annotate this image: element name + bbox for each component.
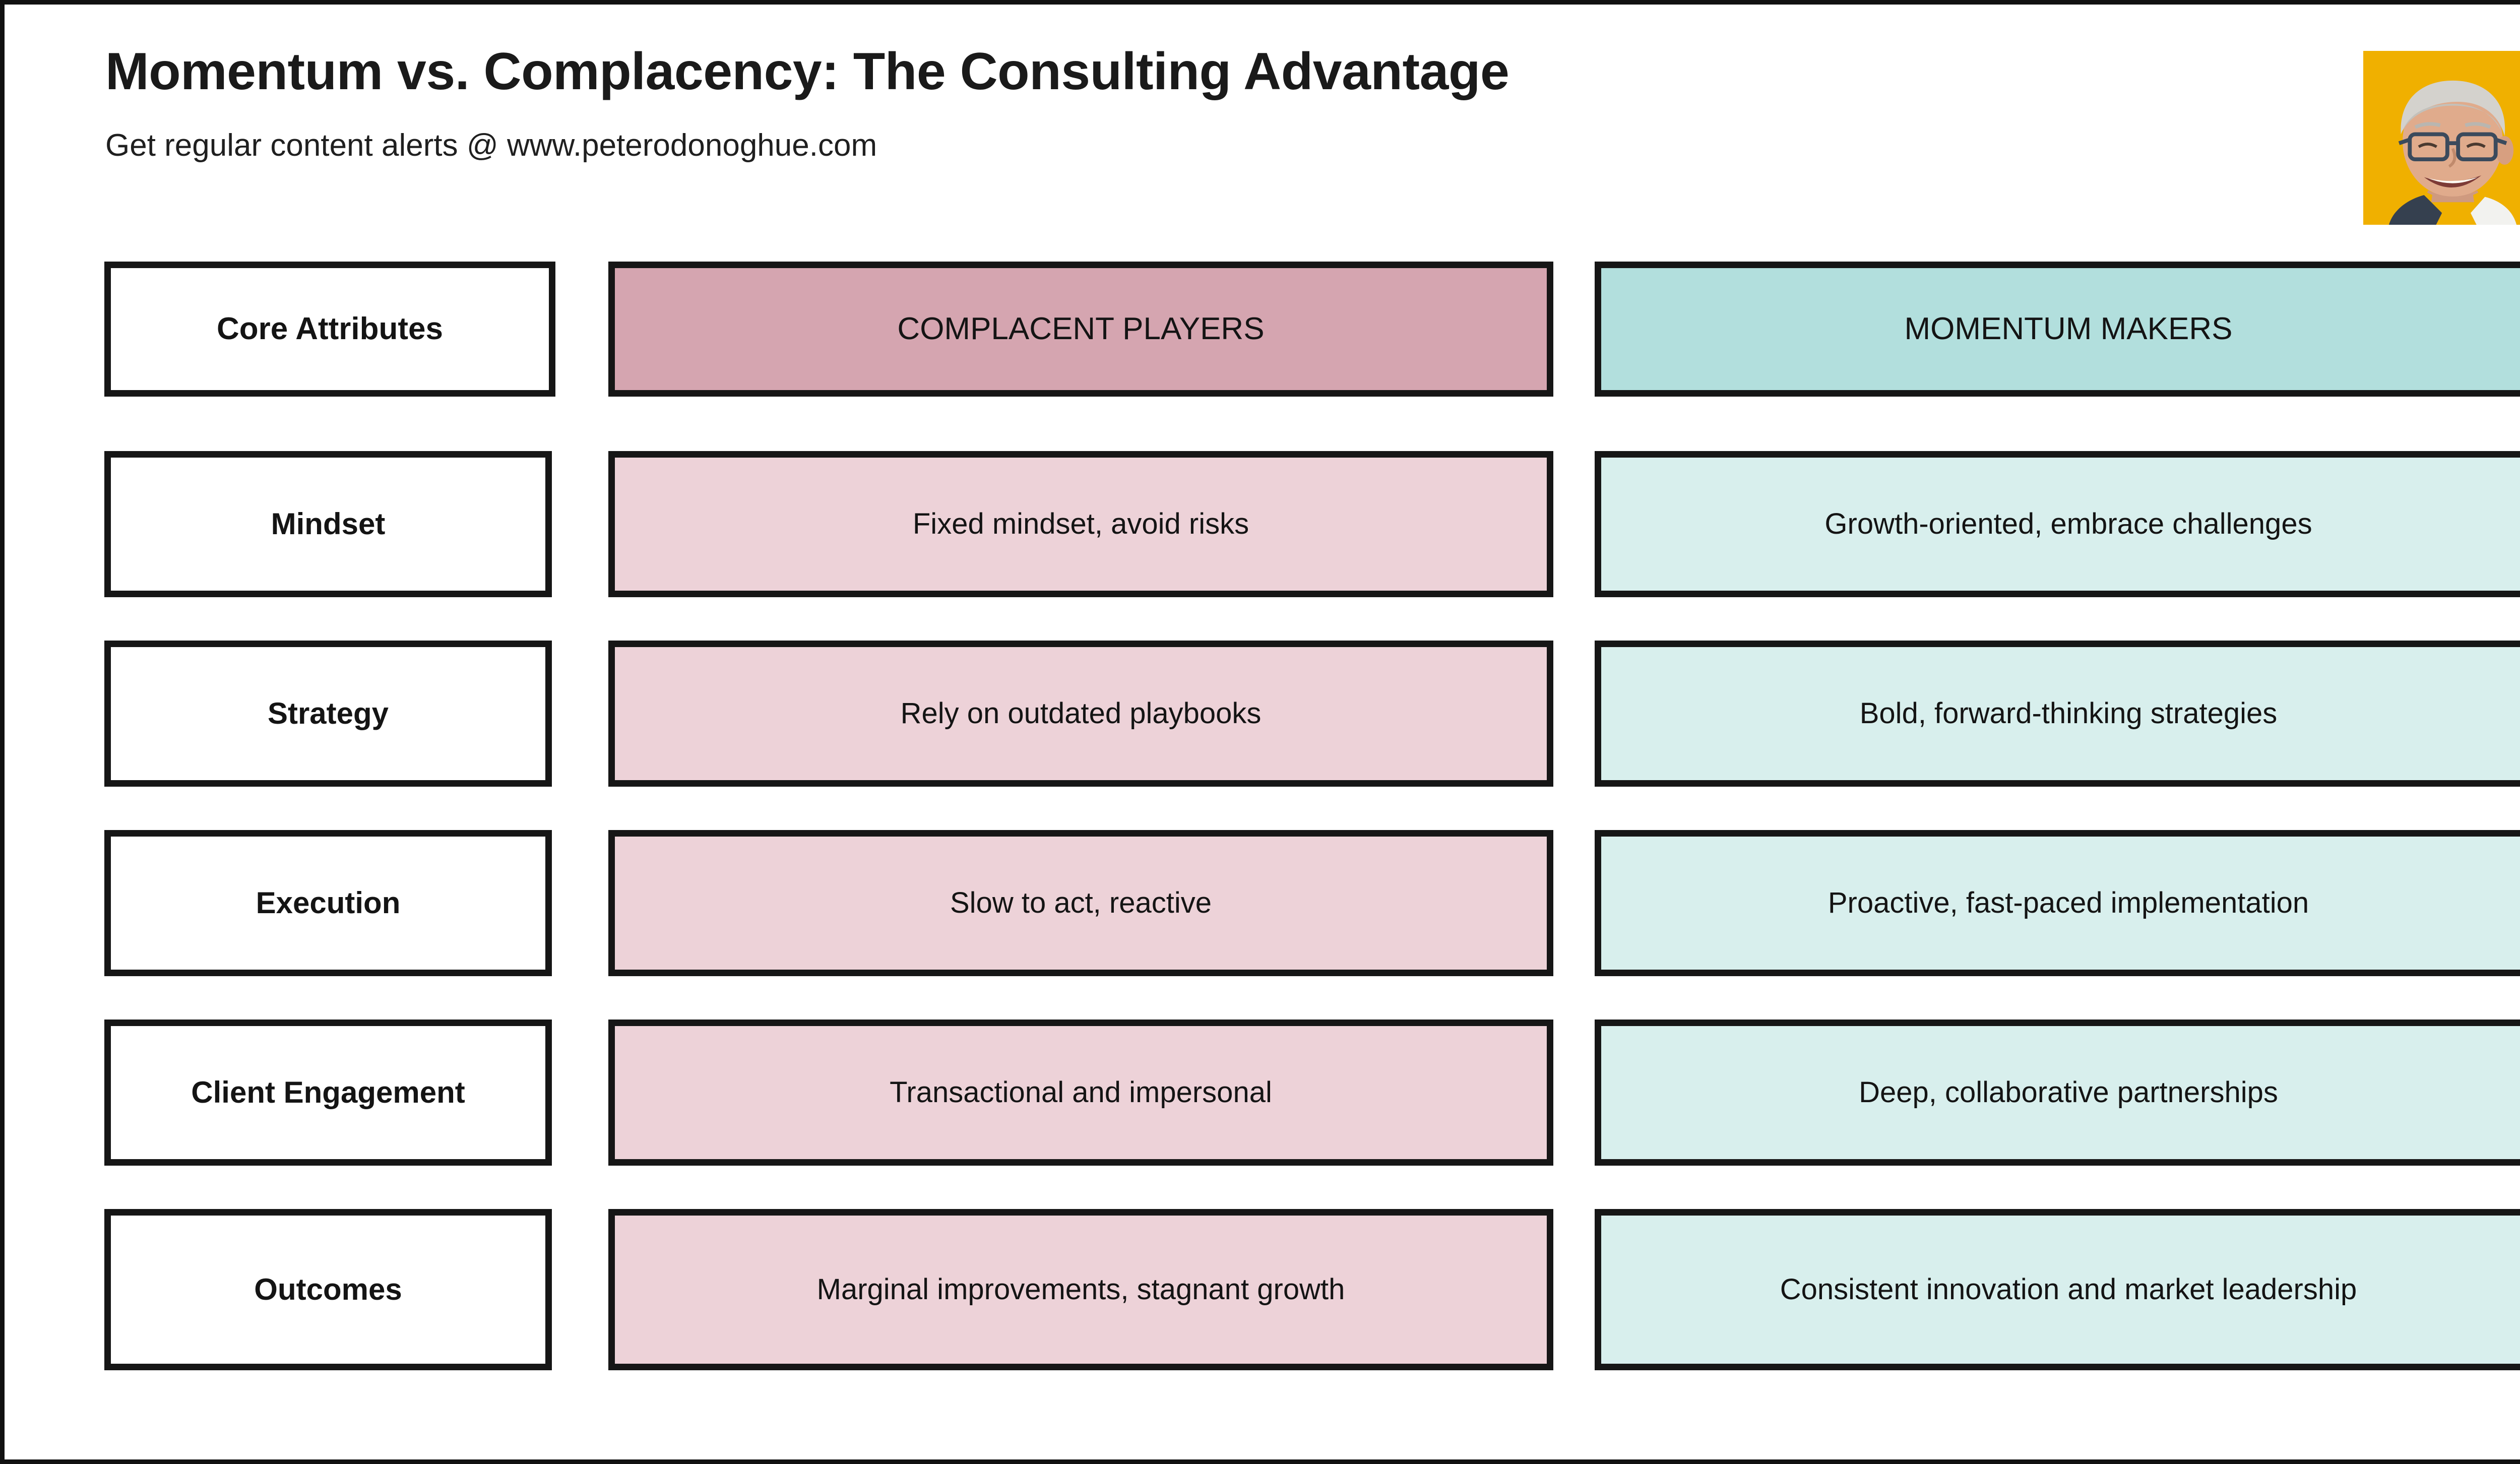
table-header-momentum-makers-label: MOMENTUM MAKERS <box>1601 310 2520 348</box>
table-row-attribute-strategy: Strategy <box>104 641 552 787</box>
table-row-attribute-client-engagement: Client Engagement <box>104 1020 552 1166</box>
table-cell-label: Outcomes <box>111 1271 545 1308</box>
table-row-attribute-mindset: Mindset <box>104 451 552 597</box>
table-cell-label: Fixed mindset, avoid risks <box>615 506 1547 542</box>
table-row-complacent-mindset: Fixed mindset, avoid risks <box>608 451 1553 597</box>
table-cell-label: Deep, collaborative partnerships <box>1601 1075 2520 1111</box>
table-row-attribute-outcomes: Outcomes <box>104 1209 552 1370</box>
table-header-momentum-makers: MOMENTUM MAKERS <box>1595 262 2520 397</box>
table-row-momentum-strategy: Bold, forward-thinking strategies <box>1595 641 2520 787</box>
table-cell-label: Bold, forward-thinking strategies <box>1601 696 2520 732</box>
table-row-momentum-execution: Proactive, fast-paced implementation <box>1595 830 2520 976</box>
table-header-attribute: Core Attributes <box>104 262 555 397</box>
table-row-complacent-outcomes: Marginal improvements, stagnant growth <box>608 1209 1553 1370</box>
table-cell-label: Marginal improvements, stagnant growth <box>615 1272 1547 1308</box>
comparison-table: Core Attributes COMPLACENT PLAYERS MOMEN… <box>5 5 2520 1459</box>
table-cell-label: Proactive, fast-paced implementation <box>1601 885 2520 921</box>
table-cell-label: Client Engagement <box>111 1074 545 1111</box>
table-row-complacent-client-engagement: Transactional and impersonal <box>608 1020 1553 1166</box>
table-header-complacent-players-label: COMPLACENT PLAYERS <box>615 310 1547 348</box>
table-cell-label: Growth-oriented, embrace challenges <box>1601 506 2520 542</box>
table-cell-label: Execution <box>111 884 545 921</box>
table-row-attribute-execution: Execution <box>104 830 552 976</box>
table-cell-label: Consistent innovation and market leaders… <box>1601 1272 2520 1308</box>
table-cell-label: Strategy <box>111 695 545 732</box>
page-frame: Momentum vs. Complacency: The Consulting… <box>0 0 2520 1464</box>
table-cell-label: Transactional and impersonal <box>615 1075 1547 1111</box>
table-cell-label: Rely on outdated playbooks <box>615 696 1547 732</box>
table-row-momentum-outcomes: Consistent innovation and market leaders… <box>1595 1209 2520 1370</box>
table-cell-label: Mindset <box>111 505 545 542</box>
table-cell-label: Slow to act, reactive <box>615 885 1547 921</box>
table-header-attribute-label: Core Attributes <box>111 310 549 348</box>
table-row-complacent-strategy: Rely on outdated playbooks <box>608 641 1553 787</box>
table-header-complacent-players: COMPLACENT PLAYERS <box>608 262 1553 397</box>
table-row-complacent-execution: Slow to act, reactive <box>608 830 1553 976</box>
table-row-momentum-client-engagement: Deep, collaborative partnerships <box>1595 1020 2520 1166</box>
table-row-momentum-mindset: Growth-oriented, embrace challenges <box>1595 451 2520 597</box>
